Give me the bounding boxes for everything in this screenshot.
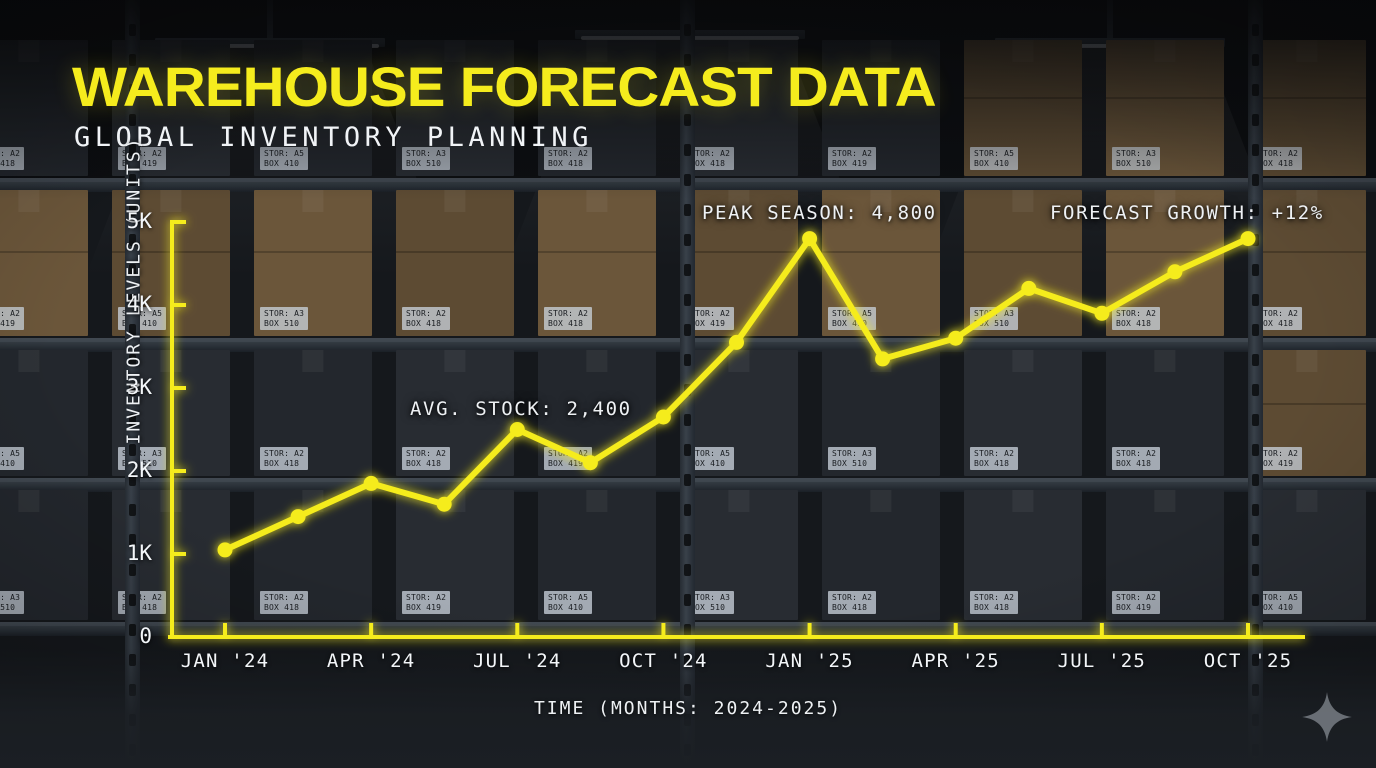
annotation-peak-season: PEAK SEASON: 4,800 [702,202,937,224]
x-tick-label: JAN '25 [730,650,890,672]
x-tick-label: OCT '25 [1168,650,1328,672]
annotation-avg-stock: AVG. STOCK: 2,400 [410,398,632,420]
data-point-marker [802,231,817,246]
y-tick-label: 2K [96,458,152,482]
chart-plot-group [168,220,1305,637]
x-tick-label: JUL '25 [1022,650,1182,672]
annotation-forecast-growth: FORECAST GROWTH: +12% [1050,202,1324,224]
sparkle-icon [1300,690,1354,744]
data-point-marker [729,335,744,350]
x-tick-label: JAN '24 [145,650,305,672]
data-point-marker [437,497,452,512]
y-tick-label: 3K [96,375,152,399]
data-point-marker [1167,264,1182,279]
x-tick-label: OCT '24 [583,650,743,672]
inventory-data-line [225,239,1248,550]
y-tick-label: 4K [96,292,152,316]
data-point-marker [1021,281,1036,296]
y-tick-label: 5K [96,209,152,233]
data-point-marker [1241,231,1256,246]
data-point-marker [1094,306,1109,321]
y-tick-label: 1K [96,541,152,565]
data-point-marker [218,542,233,557]
data-point-marker [583,455,598,470]
data-point-marker [291,509,306,524]
y-tick-label: 0 [96,624,152,648]
x-tick-label: APR '25 [876,650,1036,672]
data-point-marker [948,331,963,346]
data-point-marker [656,410,671,425]
data-point-marker [364,476,379,491]
x-tick-label: JUL '24 [437,650,597,672]
data-point-marker [510,422,525,437]
x-axis-title: TIME (MONTHS: 2024-2025) [0,698,1376,719]
y-axis-title: INVENTORY LEVELS (UNITS) [124,121,145,461]
x-tick-label: APR '24 [291,650,451,672]
warehouse-forecast-infographic: STOR: A2 BOX 418STOR: A2 BOX 419STOR: A5… [0,0,1376,768]
data-point-marker [875,351,890,366]
